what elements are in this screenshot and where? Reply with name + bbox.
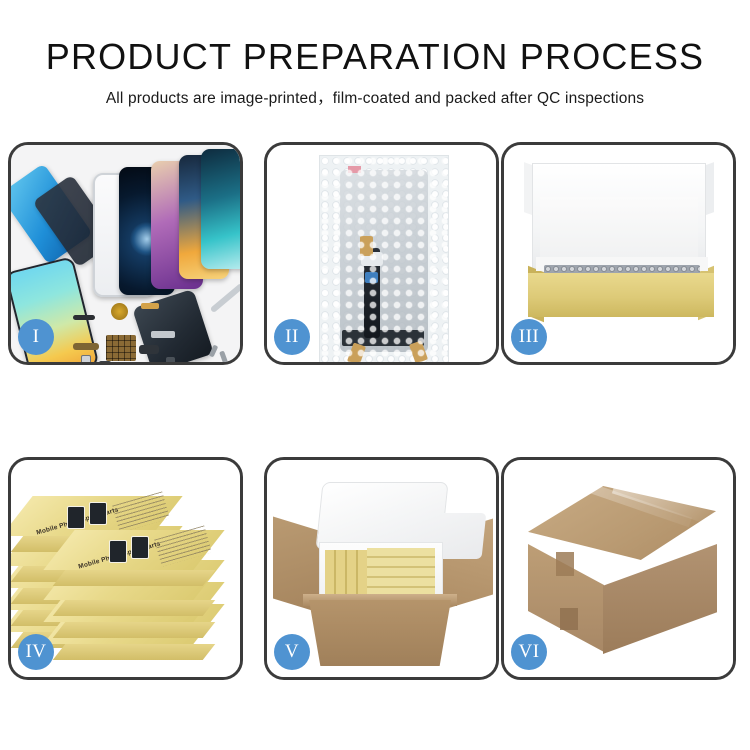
teal-gradient-phone [201, 149, 240, 269]
bubble-wrap-bag [319, 155, 449, 362]
box-front-face [53, 622, 216, 638]
lcd-screen [340, 170, 428, 352]
flex-cable-part [141, 303, 159, 309]
connector-part [81, 355, 91, 362]
box-label-screen-2 [131, 536, 149, 559]
box-front-face [53, 570, 216, 586]
step-panel-4: Mobile Phone Spare Parts [8, 457, 243, 680]
battery-connector-part [166, 357, 175, 362]
carton-tape-patch-2 [560, 608, 578, 630]
step-panel-3: III [501, 142, 736, 365]
screw-part-2 [219, 351, 228, 362]
gold-tray-body [528, 273, 714, 317]
process-steps-grid: I II [8, 142, 742, 680]
camera-module-part [139, 345, 159, 354]
wireless-coil-part [111, 303, 128, 320]
flex-cable-part-2 [73, 343, 99, 350]
box-label-screen-2 [89, 502, 107, 525]
pink-tape-marker [348, 166, 361, 173]
step-panel-5: V [264, 457, 499, 680]
step-badge-6: VI [511, 634, 547, 670]
step-badge-2: II [274, 319, 310, 355]
ribbon-cable-part [151, 331, 175, 338]
box-front-face [53, 644, 216, 660]
step-panel-1: I [8, 142, 243, 365]
small-module-part [99, 361, 111, 362]
header: PRODUCT PREPARATION PROCESS All products… [0, 0, 750, 108]
page-title: PRODUCT PREPARATION PROCESS [0, 36, 750, 78]
gold-boxes-row-2 [367, 548, 435, 596]
product-preparation-infographic: PRODUCT PREPARATION PROCESS All products… [0, 0, 750, 750]
gold-tab-1 [360, 236, 373, 256]
box-front-face [53, 600, 216, 616]
carton-body [309, 600, 451, 666]
box-label-screen-1 [67, 506, 85, 529]
box-label-screen-1 [109, 540, 127, 563]
step-badge-5: V [274, 634, 310, 670]
speaker-part [73, 315, 95, 320]
carton-right-face [603, 544, 717, 654]
step-panel-2: II [264, 142, 499, 365]
step-badge-4: IV [18, 634, 54, 670]
carton-tape-patch-1 [556, 552, 574, 576]
page-subtitle: All products are image-printed，film-coat… [0, 86, 750, 108]
tweezers-tool [210, 283, 240, 313]
step-badge-1: I [18, 319, 54, 355]
step-badge-3: III [511, 319, 547, 355]
lcd-driver-chip [365, 272, 378, 283]
foam-box-lid [315, 482, 448, 550]
step-panel-6: VI [501, 457, 736, 680]
chip-array-part [106, 335, 136, 361]
